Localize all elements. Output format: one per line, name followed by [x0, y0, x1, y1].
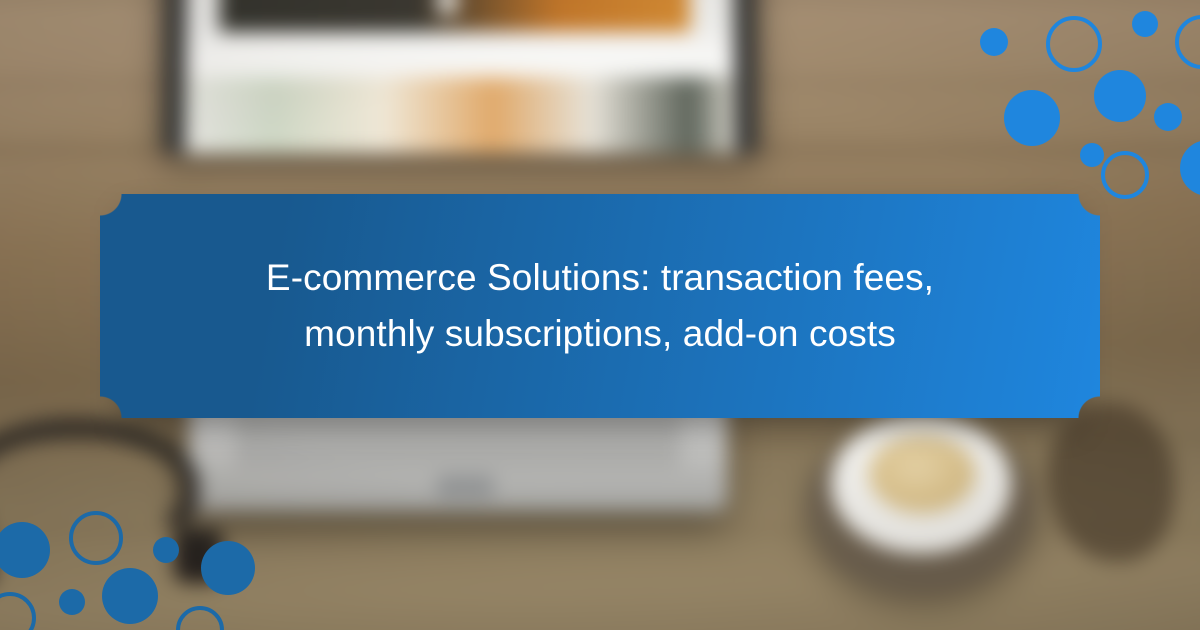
social-card-stage: E-commerce Solutions: transaction fees, … [0, 0, 1200, 630]
title-banner: E-commerce Solutions: transaction fees, … [100, 194, 1100, 418]
page-title: E-commerce Solutions: transaction fees, … [170, 250, 1030, 362]
